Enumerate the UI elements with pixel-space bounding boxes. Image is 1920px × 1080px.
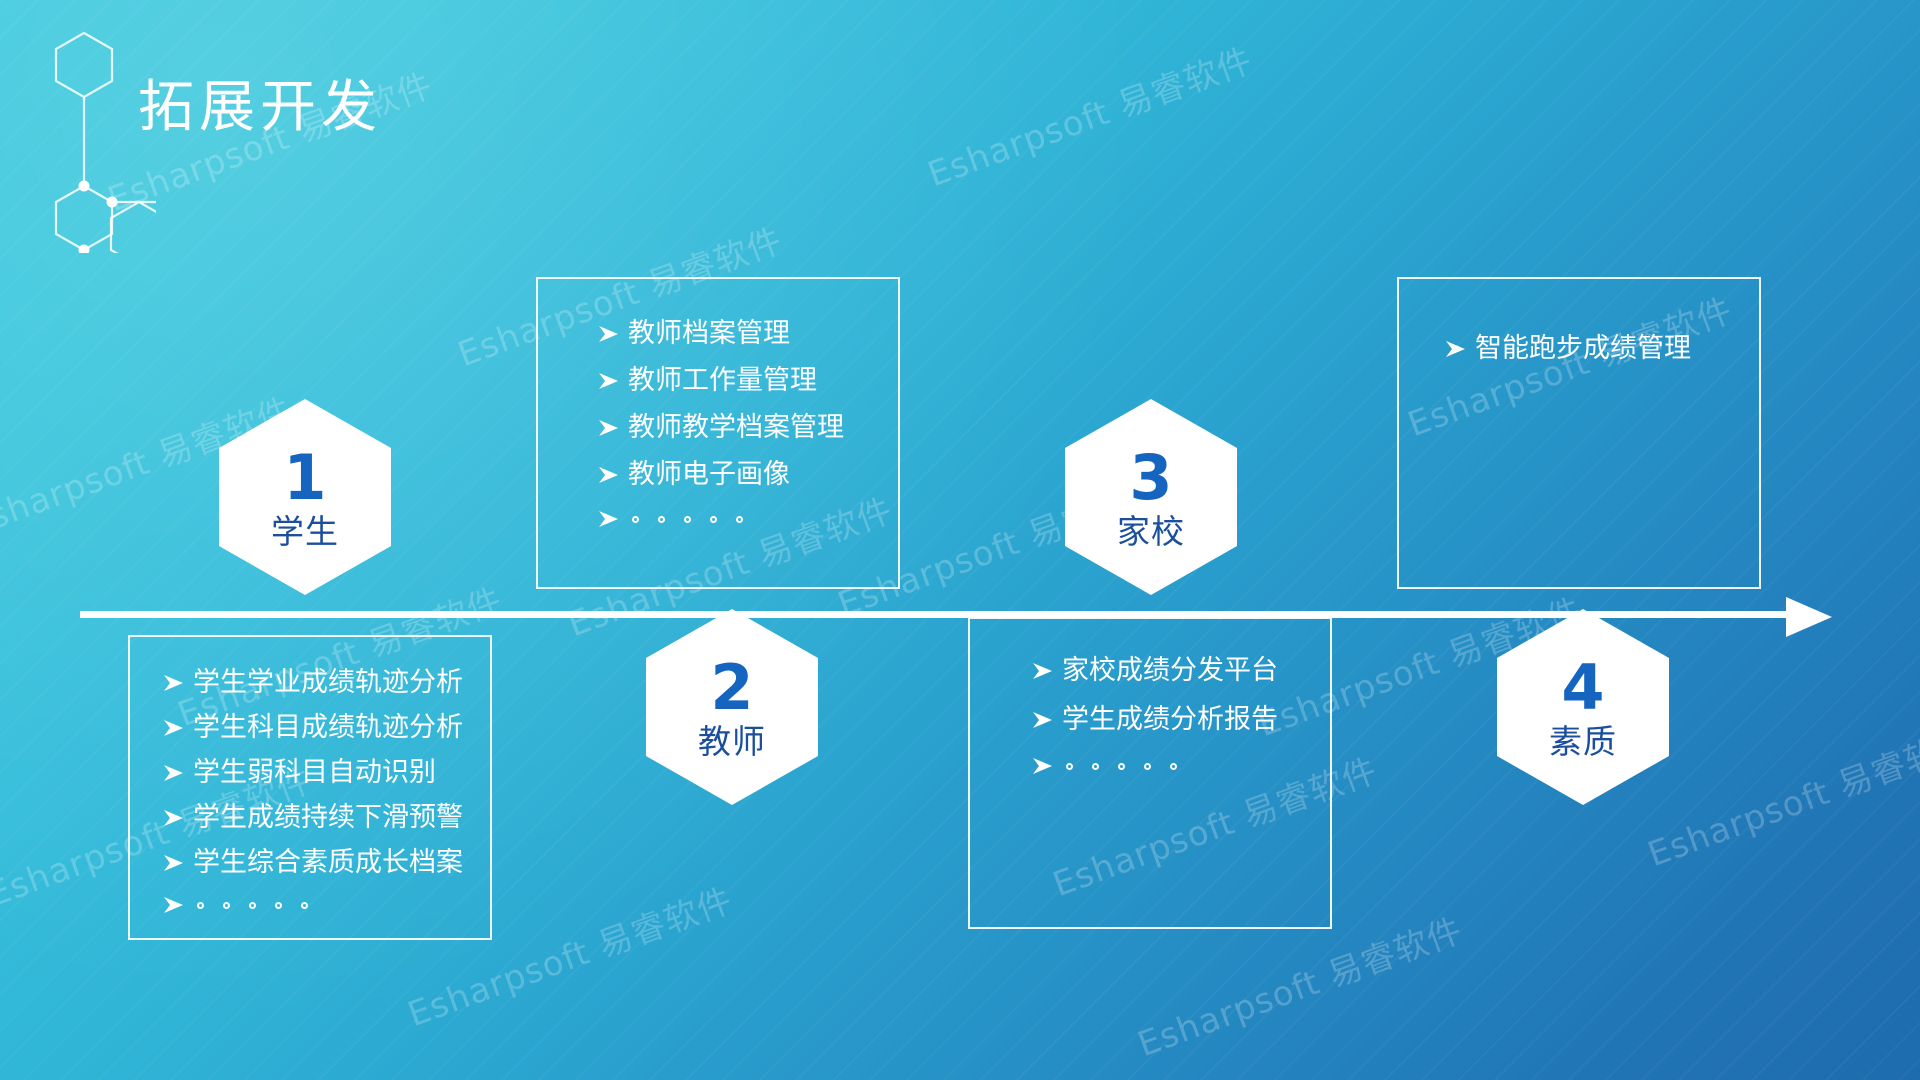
panel-student: 学生学业成绩轨迹分析 学生科目成绩轨迹分析 学生弱科目自动识别 xyxy=(128,635,492,940)
list-item-label: 家校成绩分发平台 xyxy=(1062,657,1278,684)
list-item: 学生成绩分析报告 xyxy=(1032,706,1330,733)
step-hexagon-4[interactable]: 4 素质 xyxy=(1497,609,1669,805)
arrow-bullet-icon xyxy=(163,854,193,872)
page-title: 拓展开发 xyxy=(138,80,382,136)
arrow-bullet-icon xyxy=(163,764,193,782)
list-item-label: 学生科目成绩轨迹分析 xyxy=(193,714,463,741)
arrow-bullet-icon xyxy=(598,510,628,528)
panel-homeschool: 家校成绩分发平台 学生成绩分析报告 xyxy=(968,617,1332,929)
arrow-bullet-icon xyxy=(1032,711,1062,729)
ellipsis-dots xyxy=(193,902,308,909)
arrow-bullet-icon xyxy=(598,372,628,390)
step-number: 3 xyxy=(1129,447,1172,509)
list-item: 教师教学档案管理 xyxy=(598,414,898,441)
list-item-label: 教师教学档案管理 xyxy=(628,414,844,441)
arrow-bullet-icon xyxy=(163,896,193,914)
list-item-ellipsis xyxy=(1032,757,1330,775)
list-item: 家校成绩分发平台 xyxy=(1032,657,1330,684)
arrow-bullet-icon xyxy=(598,325,628,343)
arrow-bullet-icon xyxy=(1032,662,1062,680)
list-item: 学生弱科目自动识别 xyxy=(163,759,490,786)
step-number: 1 xyxy=(283,447,326,509)
slide-canvas: Esharpsoft 易睿软件 Esharpsoft 易睿软件 Esharpso… xyxy=(0,0,1920,1080)
list-item-label: 智能跑步成绩管理 xyxy=(1475,335,1691,362)
list-item-label: 学生成绩持续下滑预警 xyxy=(193,804,463,831)
step-caption: 家校 xyxy=(1117,515,1185,548)
list-item-label: 学生学业成绩轨迹分析 xyxy=(193,669,463,696)
list-item: 学生成绩持续下滑预警 xyxy=(163,804,490,831)
hexagon-molecule-icon xyxy=(46,28,156,257)
list-item: 教师电子画像 xyxy=(598,461,898,488)
list-item: 教师档案管理 xyxy=(598,320,898,347)
step-number: 4 xyxy=(1561,657,1604,719)
arrow-bullet-icon xyxy=(163,719,193,737)
arrow-bullet-icon xyxy=(163,809,193,827)
step-caption: 学生 xyxy=(271,515,339,548)
arrow-bullet-icon xyxy=(163,674,193,692)
list-item: 智能跑步成绩管理 xyxy=(1445,335,1759,362)
arrow-bullet-icon xyxy=(1032,757,1062,775)
step-caption: 素质 xyxy=(1549,725,1617,758)
step-hexagon-2[interactable]: 2 教师 xyxy=(646,609,818,805)
step-caption: 教师 xyxy=(698,725,766,758)
ellipsis-dots xyxy=(1062,763,1177,770)
arrow-bullet-icon xyxy=(598,419,628,437)
list-item-ellipsis xyxy=(163,896,490,914)
arrow-bullet-icon xyxy=(598,466,628,484)
list-item: 学生科目成绩轨迹分析 xyxy=(163,714,490,741)
list-item-label: 学生综合素质成长档案 xyxy=(193,849,463,876)
list-item: 教师工作量管理 xyxy=(598,367,898,394)
list-item: 学生学业成绩轨迹分析 xyxy=(163,669,490,696)
step-hexagon-3[interactable]: 3 家校 xyxy=(1065,399,1237,595)
ellipsis-dots xyxy=(628,516,743,523)
list-item: 学生综合素质成长档案 xyxy=(163,849,490,876)
list-item-label: 教师档案管理 xyxy=(628,320,790,347)
step-number: 2 xyxy=(710,657,753,719)
list-item-label: 教师工作量管理 xyxy=(628,367,817,394)
list-item-ellipsis xyxy=(598,510,898,528)
step-hexagon-1[interactable]: 1 学生 xyxy=(219,399,391,595)
list-item-label: 学生弱科目自动识别 xyxy=(193,759,436,786)
panel-quality: 智能跑步成绩管理 xyxy=(1397,277,1761,589)
list-item-label: 学生成绩分析报告 xyxy=(1062,706,1278,733)
list-item-label: 教师电子画像 xyxy=(628,461,790,488)
arrow-bullet-icon xyxy=(1445,340,1475,358)
panel-teacher: 教师档案管理 教师工作量管理 教师教学档案管理 xyxy=(536,277,900,589)
